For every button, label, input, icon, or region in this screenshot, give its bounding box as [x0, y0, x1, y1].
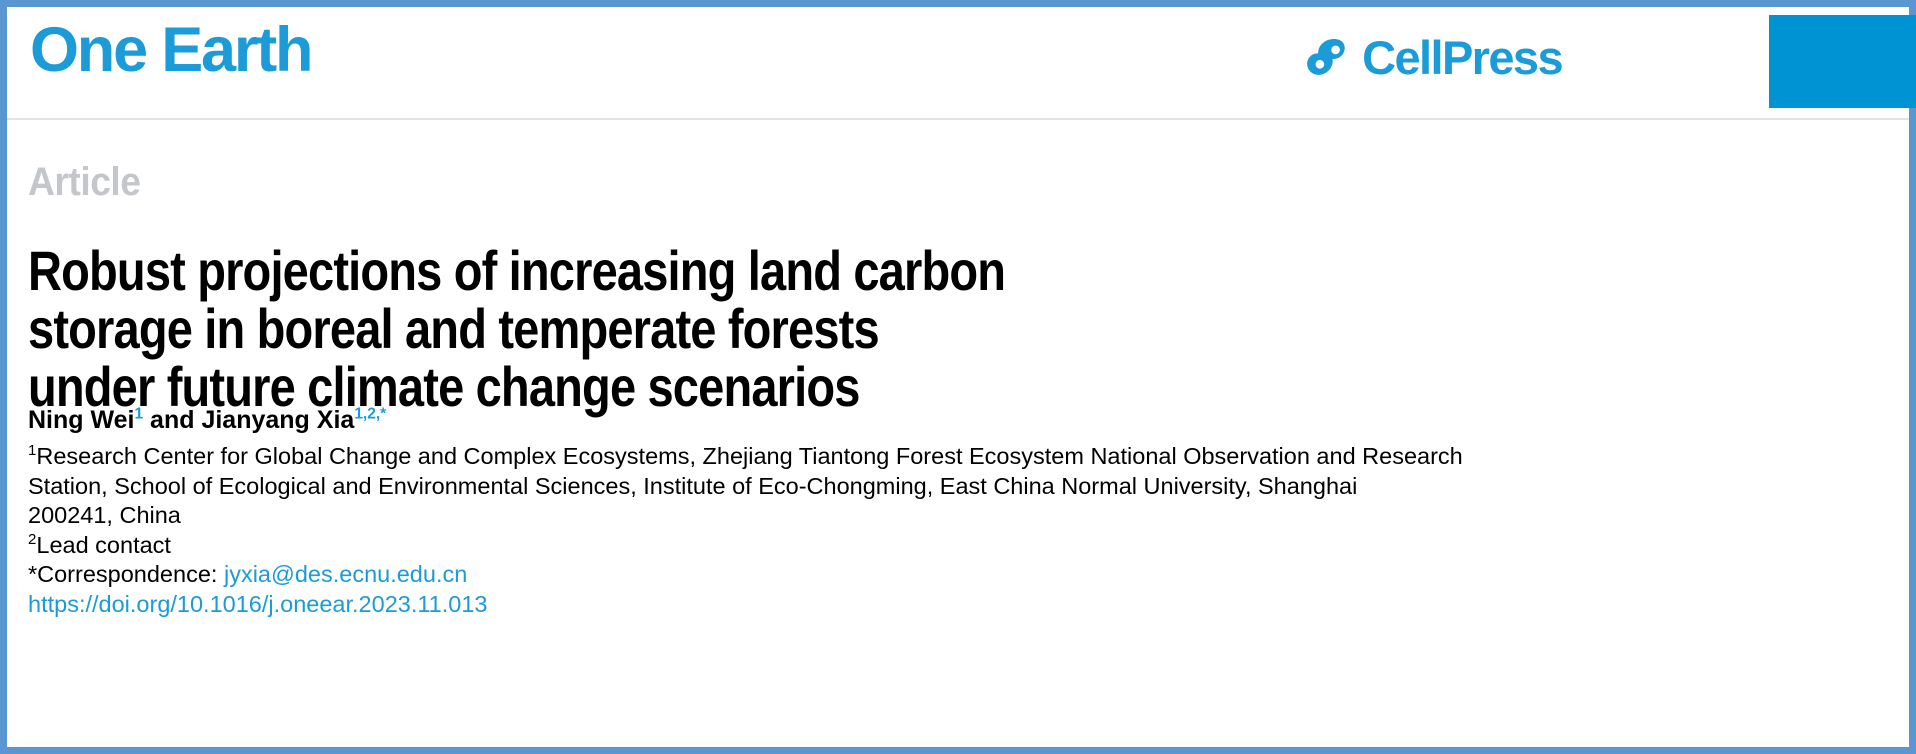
affiliation-2-text: Lead contact: [36, 532, 171, 558]
affiliation-1-line-1: 1Research Center for Global Change and C…: [28, 442, 1448, 472]
page-border-right: [1909, 0, 1916, 754]
affiliation-2-line: 2Lead contact: [28, 531, 1448, 561]
author-2-affiliation-marker[interactable]: 1,2,*: [354, 406, 386, 423]
author-conjunction: and: [143, 406, 201, 434]
affiliation-block: 1Research Center for Global Change and C…: [28, 442, 1448, 619]
page-border-bottom: [0, 747, 1916, 754]
cellpress-wordmark: CellPress: [1362, 34, 1562, 81]
journal-header: One Earth CellPress: [7, 7, 1909, 119]
correspondence-email-link[interactable]: jyxia@des.ecnu.edu.cn: [224, 561, 467, 587]
title-line-1: Robust projections of increasing land ca…: [28, 242, 1288, 300]
affiliation-1-line-2: Station, School of Ecological and Enviro…: [28, 472, 1448, 502]
correspondence-label: *Correspondence:: [28, 561, 217, 587]
affiliation-1-line-3: 200241, China: [28, 501, 1448, 531]
header-divider: [7, 118, 1909, 120]
page-border-top: [0, 0, 1916, 7]
article-header-page: One Earth CellPress Article Robust proje…: [0, 0, 1916, 754]
title-line-2: storage in boreal and temperate forests: [28, 300, 1288, 358]
journal-title-logo[interactable]: One Earth: [30, 19, 311, 82]
cellpress-logo[interactable]: CellPress: [1306, 29, 1562, 85]
cellpress-link-icon: [1306, 37, 1352, 77]
article-title: Robust projections of increasing land ca…: [28, 242, 1288, 416]
affiliation-1-text-line-1: Research Center for Global Change and Co…: [36, 443, 1462, 469]
doi-link[interactable]: https://doi.org/10.1016/j.oneear.2023.11…: [28, 590, 1448, 620]
author-1-affiliation-marker[interactable]: 1: [134, 406, 143, 423]
page-border-left: [0, 0, 7, 754]
author-list: Ning Wei1 and Jianyang Xia1,2,*: [28, 408, 386, 433]
header-accent-block: [1769, 15, 1916, 108]
author-name-2[interactable]: Jianyang Xia: [201, 406, 354, 434]
author-name-1[interactable]: Ning Wei: [28, 406, 134, 434]
correspondence-line: *Correspondence: jyxia@des.ecnu.edu.cn: [28, 560, 1448, 590]
article-type-kicker: Article: [28, 162, 141, 202]
